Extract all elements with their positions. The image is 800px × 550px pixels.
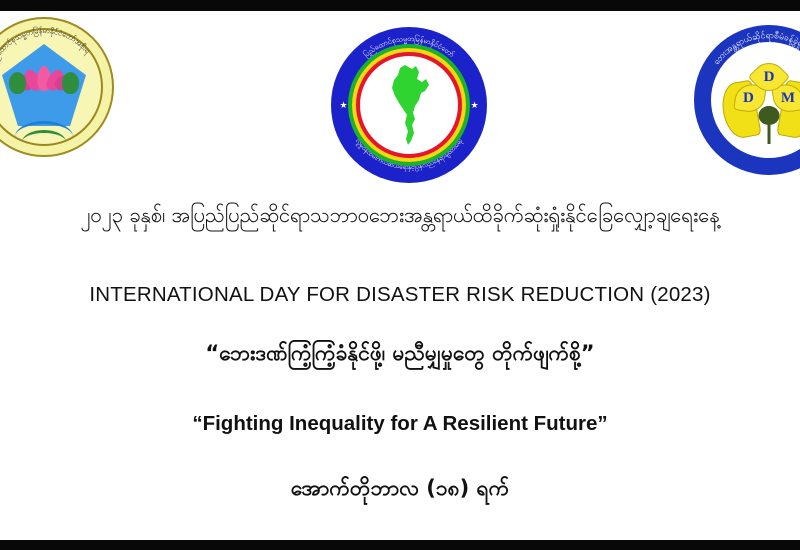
ministry-seal-logo-icon: ပြည်ထောင်စုသမ္မတမြန်မာနိုင်ငံတော်အစိုးရ bbox=[0, 17, 114, 157]
burmese-event-date: အောက်တိုဘာလ (၁၈) ရက် bbox=[0, 472, 800, 504]
ddm-monogram-m: M bbox=[781, 90, 795, 107]
burmese-event-title: ၂၀၂၃ ခုနှစ်၊ အပြည်ပြည်ဆိုင်ရာသဘာဝဘေးအန္တ… bbox=[0, 199, 800, 231]
myanmar-map-icon bbox=[385, 63, 433, 147]
logo-row: ပြည်ထောင်စုသမ္မတမြန်မာနိုင်ငံတော်အစိုးရ bbox=[0, 11, 800, 189]
ddm-monogram-d1: D bbox=[764, 69, 775, 86]
emblem-star-right-icon: ★ bbox=[470, 101, 479, 110]
myanmar-national-emblem-icon: ပြည်ထောင်စုသမ္မတမြန်မာနိုင်ငံတော် လူမှုဝ… bbox=[331, 27, 487, 183]
ddm-monogram-d2: D bbox=[743, 90, 754, 107]
english-event-title: INTERNATIONAL DAY FOR DISASTER RISK REDU… bbox=[0, 281, 800, 309]
emblem-star-left-icon: ★ bbox=[339, 101, 348, 110]
letterbox-top-bar bbox=[0, 0, 800, 11]
burmese-slogan: “ဘေးဒဏ်ကြံ့ကြံ့ခံနိုင်ဖို့၊ မညီမျှမှုတွေ… bbox=[0, 337, 800, 369]
poster-canvas: ပြည်ထောင်စုသမ္မတမြန်မာနိုင်ငံတော်အစိုးရ bbox=[0, 0, 800, 550]
ddm-hands-and-flower-icon: D D M bbox=[721, 74, 800, 138]
ddm-stem bbox=[768, 122, 771, 144]
letterbox-bottom-bar bbox=[0, 540, 800, 550]
ddm-seal-logo-icon: ဘေးအန္တရာယ်ဆိုင်ရာစီမံခန့်ခွဲမှုဦးစီးဌာန… bbox=[694, 25, 800, 175]
ddm-flower-center bbox=[759, 106, 780, 125]
english-slogan: “Fighting Inequality for A Resilient Fut… bbox=[0, 410, 800, 438]
seal-lotus-icon bbox=[21, 65, 67, 91]
